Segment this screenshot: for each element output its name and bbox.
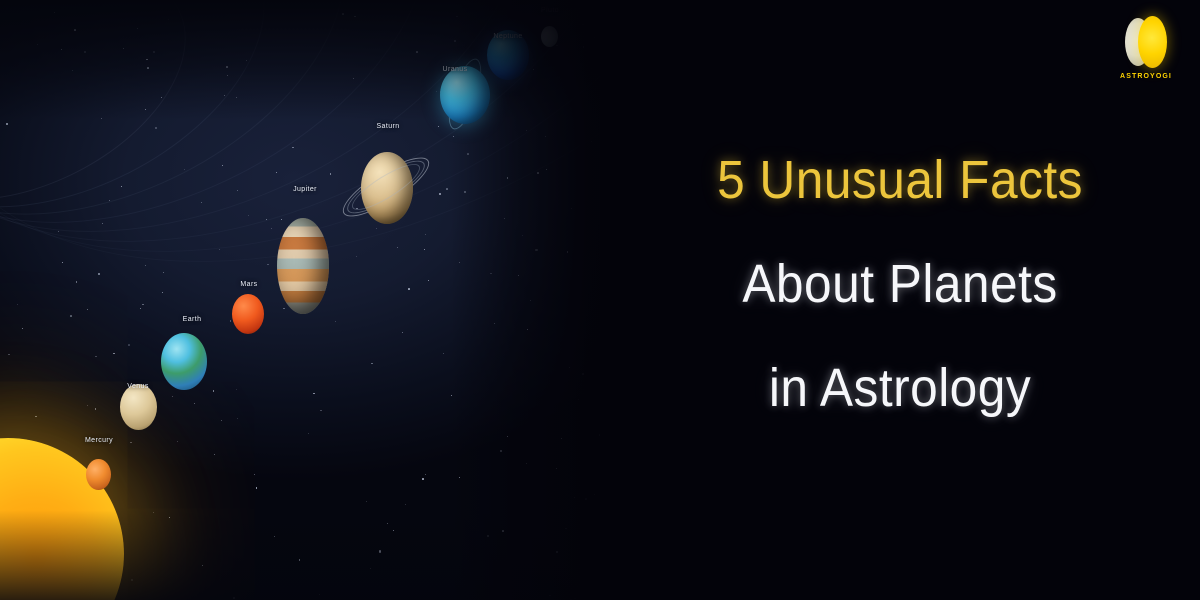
- star: [163, 272, 164, 273]
- space-scene: Mercury Venus Earth Mars Jupiter Saturn …: [0, 0, 640, 600]
- star: [308, 433, 309, 434]
- logo-wordmark: ASTROYOGI: [1114, 73, 1178, 80]
- star: [274, 536, 275, 537]
- star: [578, 399, 579, 400]
- headline-line-3: in Astrology: [624, 336, 1176, 440]
- star: [370, 568, 372, 570]
- text-panel: 5 Unusual Facts About Planets in Astrolo…: [600, 0, 1200, 600]
- star: [530, 300, 532, 302]
- planet-label-jupiter: Jupiter: [293, 186, 317, 193]
- star: [70, 315, 72, 317]
- star: [140, 308, 141, 309]
- planet-jupiter: [277, 218, 329, 314]
- star: [230, 320, 232, 322]
- planet-earth: [161, 333, 207, 390]
- planet-mars: [232, 294, 264, 334]
- star: [571, 208, 573, 210]
- star: [233, 597, 235, 599]
- star: [169, 517, 171, 519]
- star: [556, 551, 558, 553]
- star: [177, 441, 178, 442]
- uranus-body: [440, 66, 490, 124]
- planet-label-mercury: Mercury: [85, 437, 113, 444]
- star: [131, 579, 133, 581]
- headline: 5 Unusual Facts About Planets in Astrolo…: [600, 128, 1200, 440]
- star: [585, 498, 587, 500]
- star: [76, 281, 78, 283]
- logo-mark-icon: [1123, 14, 1169, 70]
- star: [537, 172, 539, 174]
- star: [267, 264, 269, 266]
- star: [561, 438, 562, 439]
- star: [17, 304, 18, 305]
- planet-pluto: [541, 26, 558, 47]
- star: [504, 218, 505, 219]
- star: [591, 141, 592, 142]
- star: [582, 373, 584, 375]
- star: [502, 530, 504, 532]
- star: [379, 550, 381, 552]
- star: [236, 389, 238, 391]
- star: [256, 487, 258, 489]
- planet-label-venus: Venus: [127, 383, 148, 390]
- planet-mercury: [86, 459, 111, 490]
- star: [371, 363, 373, 365]
- planet-venus: [120, 384, 157, 430]
- star: [221, 420, 222, 421]
- star: [459, 262, 460, 263]
- star: [95, 356, 97, 358]
- star: [422, 478, 424, 480]
- star: [87, 309, 88, 310]
- star: [213, 390, 215, 392]
- star: [194, 403, 196, 405]
- star: [237, 418, 238, 419]
- star: [153, 512, 154, 513]
- star: [574, 497, 575, 498]
- star: [35, 416, 37, 418]
- planet-saturn: [334, 112, 438, 262]
- star: [8, 354, 10, 356]
- star: [443, 353, 444, 354]
- star: [254, 474, 255, 475]
- star: [549, 595, 551, 597]
- star: [402, 332, 403, 333]
- star: [313, 393, 315, 395]
- star: [527, 329, 528, 330]
- star: [500, 450, 502, 452]
- star: [145, 265, 146, 266]
- star: [574, 598, 576, 600]
- star: [487, 535, 489, 537]
- star: [490, 273, 492, 275]
- logo-sun-shape: [1138, 16, 1167, 68]
- star: [494, 323, 495, 324]
- planet-label-saturn: Saturn: [376, 123, 399, 130]
- star: [87, 405, 88, 406]
- star: [162, 292, 163, 293]
- headline-line-1: 5 Unusual Facts: [624, 128, 1176, 232]
- star: [22, 328, 23, 329]
- star: [299, 559, 301, 561]
- star: [319, 594, 320, 595]
- star: [405, 504, 406, 505]
- star: [130, 442, 132, 444]
- headline-line-2: About Planets: [624, 232, 1176, 336]
- star: [526, 463, 528, 465]
- star: [142, 304, 144, 306]
- star: [283, 308, 285, 310]
- planet-label-neptune: Neptune: [493, 33, 522, 40]
- star: [366, 501, 367, 502]
- planet-label-uranus: Uranus: [443, 66, 468, 73]
- star: [393, 530, 394, 531]
- star: [567, 251, 569, 253]
- star: [172, 396, 173, 397]
- star: [408, 288, 410, 290]
- star: [202, 565, 203, 566]
- star: [518, 275, 519, 276]
- star: [113, 353, 115, 355]
- planet-label-earth: Earth: [183, 316, 202, 323]
- star: [535, 249, 537, 251]
- planet-label-pluto: Pluto: [541, 7, 559, 14]
- star: [428, 280, 429, 281]
- star: [335, 321, 336, 322]
- star: [95, 408, 97, 410]
- planet-label-mars: Mars: [240, 281, 257, 288]
- star: [451, 395, 453, 397]
- star: [594, 494, 595, 495]
- star: [546, 169, 547, 170]
- astroyogi-logo[interactable]: ASTROYOGI: [1114, 14, 1178, 80]
- star: [387, 523, 388, 524]
- star: [507, 436, 508, 437]
- star: [425, 474, 426, 475]
- banner: Mercury Venus Earth Mars Jupiter Saturn …: [0, 0, 1200, 600]
- star: [565, 528, 567, 530]
- star: [214, 454, 215, 455]
- star: [522, 235, 524, 237]
- star: [320, 410, 322, 412]
- star: [128, 344, 130, 346]
- star: [569, 367, 570, 368]
- star: [459, 477, 460, 478]
- star: [98, 273, 100, 275]
- star: [556, 468, 557, 469]
- star: [62, 262, 63, 263]
